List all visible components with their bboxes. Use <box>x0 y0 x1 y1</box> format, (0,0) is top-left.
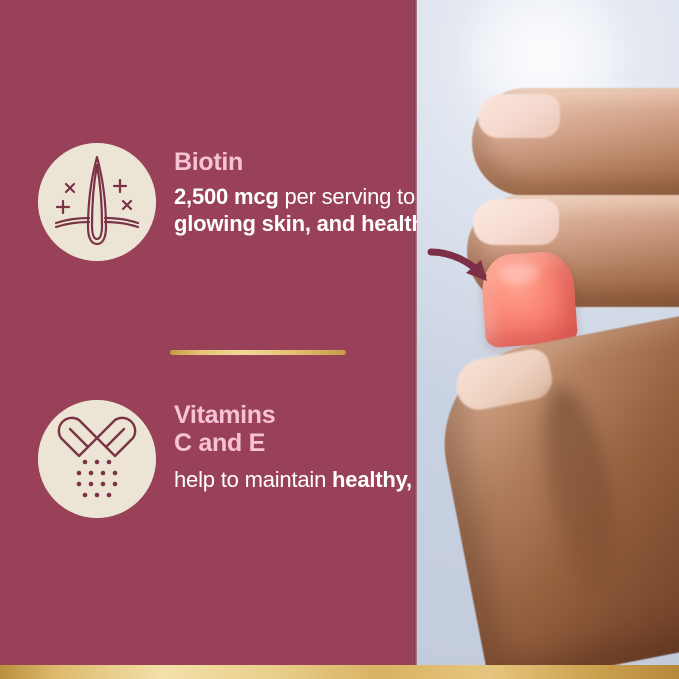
benefits-panel <box>0 0 414 665</box>
product-photo <box>417 0 679 665</box>
pointer-arrow-icon <box>425 240 507 302</box>
bottom-gold-bar <box>0 665 679 679</box>
finger-upper <box>472 88 679 196</box>
open-capsule-icon <box>38 400 156 518</box>
biotin-dose: 2,500 mcg <box>174 184 285 209</box>
hair-follicle-icon <box>38 143 156 261</box>
vitamins-body-regular: help to maintain <box>174 467 332 492</box>
gold-divider <box>170 350 346 355</box>
product-benefits-poster: Biotin 2,500 mcg per serving to support … <box>0 0 679 679</box>
finger-lower-thumb <box>427 302 679 665</box>
photo-bottom-fade <box>417 625 679 665</box>
